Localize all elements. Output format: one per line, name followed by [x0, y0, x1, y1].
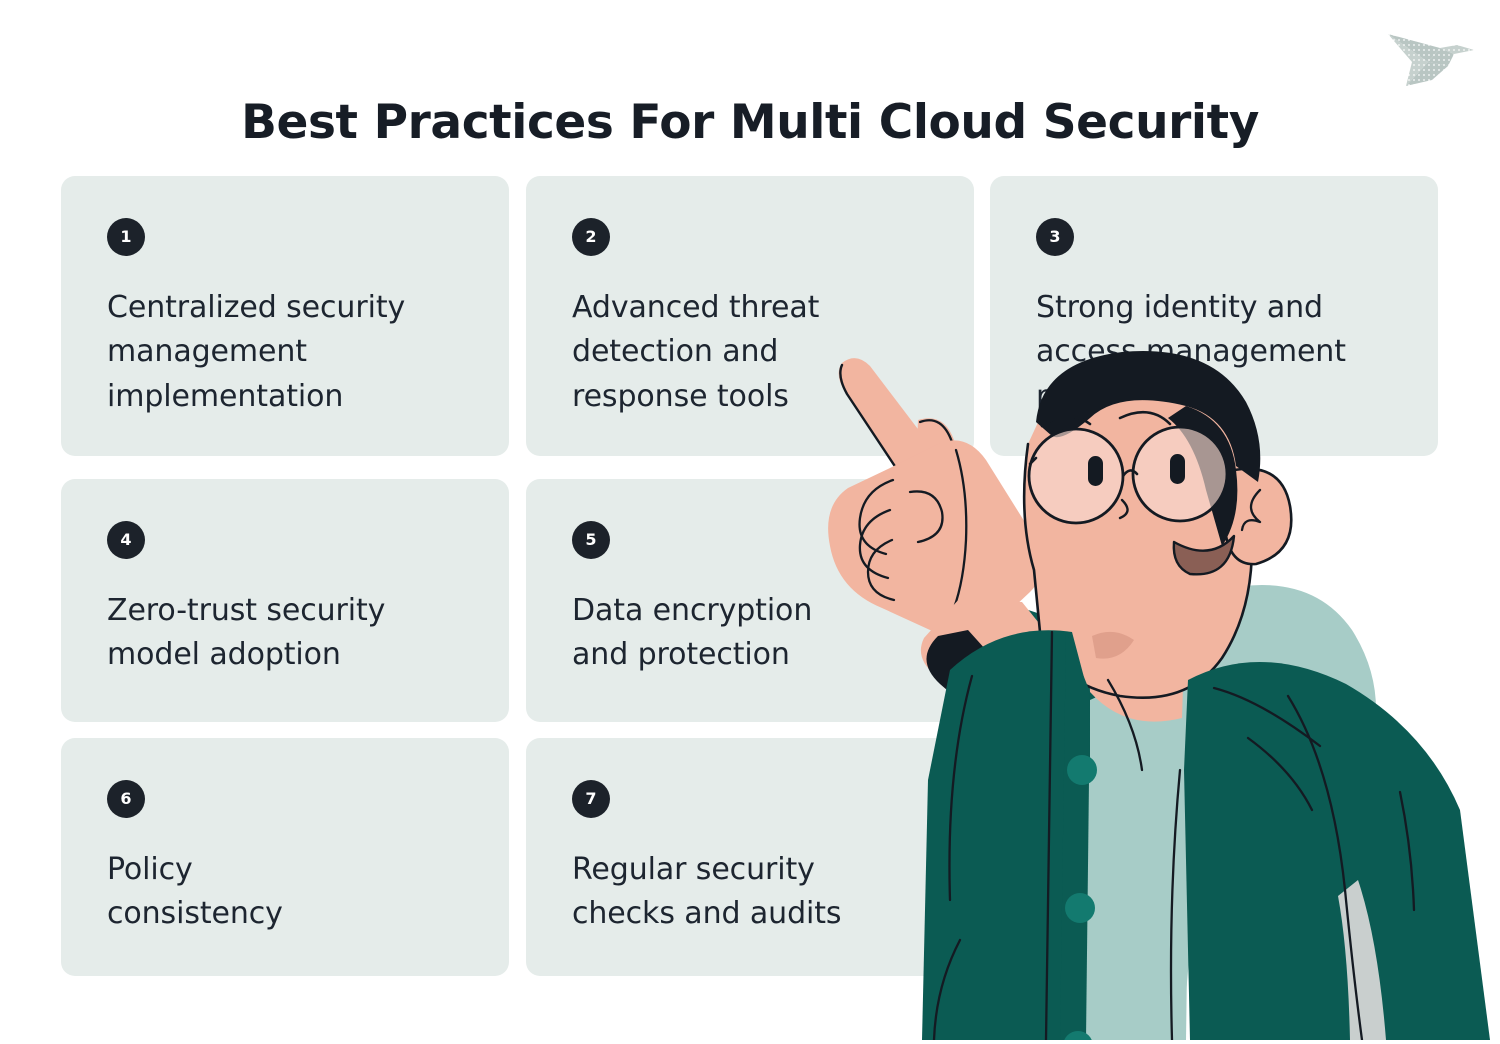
card-number-badge: 1 — [107, 218, 145, 256]
card-number-badge: 7 — [572, 780, 610, 818]
card-number-badge: 3 — [1036, 218, 1074, 256]
card-text: Advanced threat detection and response t… — [572, 286, 934, 419]
practice-card-5[interactable]: 5 Data encryption and protection — [526, 479, 974, 722]
card-number-badge: 2 — [572, 218, 610, 256]
practice-card-1[interactable]: 1 Centralized security management implem… — [61, 176, 509, 456]
practice-card-7[interactable]: 7 Regular security checks and audits — [526, 738, 974, 976]
card-number-badge: 4 — [107, 521, 145, 559]
card-text: Policy consistency — [107, 848, 469, 937]
practice-card-6[interactable]: 6 Policy consistency — [61, 738, 509, 976]
card-number-badge: 6 — [107, 780, 145, 818]
practice-card-2[interactable]: 2 Advanced threat detection and response… — [526, 176, 974, 456]
brand-logo — [1382, 18, 1478, 92]
jacket-button — [1063, 1031, 1093, 1040]
practices-grid: 1 Centralized security management implem… — [61, 176, 1438, 976]
card-text: Centralized security management implemen… — [107, 286, 469, 419]
practice-card-3[interactable]: 3 Strong identity and access management … — [990, 176, 1438, 456]
card-text: Zero-trust security model adoption — [107, 589, 469, 678]
card-number-badge: 5 — [572, 521, 610, 559]
origami-bird-icon — [1382, 18, 1478, 92]
card-text: Strong identity and access management pr… — [1036, 286, 1398, 419]
card-text: Data encryption and protection — [572, 589, 934, 678]
page-title: Best Practices For Multi Cloud Security — [0, 95, 1500, 150]
card-text: Regular security checks and audits — [572, 848, 934, 937]
practice-card-4[interactable]: 4 Zero-trust security model adoption — [61, 479, 509, 722]
